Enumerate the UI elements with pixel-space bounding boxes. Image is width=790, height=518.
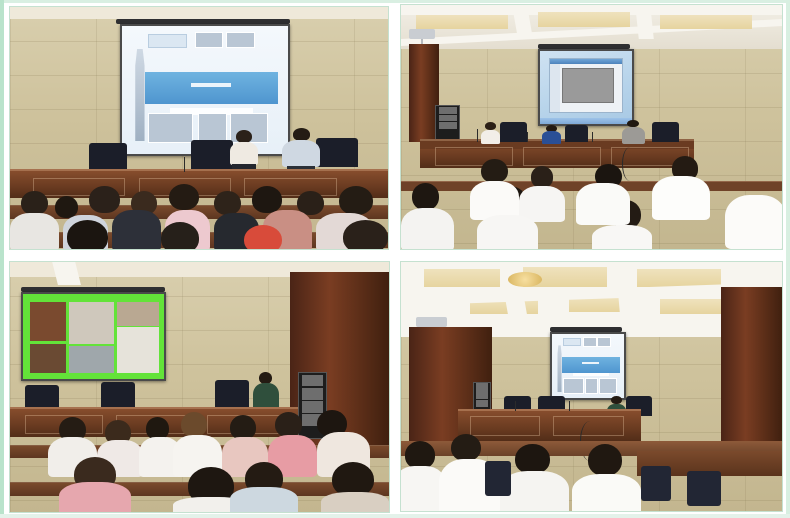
projection-screen-tr (538, 49, 633, 126)
slide-blue-title (122, 26, 288, 154)
slide-windows-desktop (540, 51, 631, 124)
photo-collage (0, 0, 790, 518)
collage-left-edge (0, 0, 4, 518)
display-board-tr (435, 105, 460, 141)
photo-bottom-left (10, 262, 389, 512)
projection-screen-bl (21, 292, 165, 381)
collage-bottom-edge (0, 514, 790, 518)
photo-bottom-right (401, 262, 782, 511)
collage-right-edge (786, 0, 790, 518)
ceiling-projector (409, 29, 436, 39)
projection-screen-br (550, 332, 626, 401)
collage-top-edge (0, 0, 790, 3)
projection-screen-tl (120, 24, 290, 156)
photo-top-left (10, 7, 388, 249)
slide-green-photo-grid (23, 294, 163, 379)
ceiling-projector-br (416, 317, 446, 327)
slide-blue-title-br (552, 334, 624, 399)
photo-top-right (401, 5, 782, 249)
